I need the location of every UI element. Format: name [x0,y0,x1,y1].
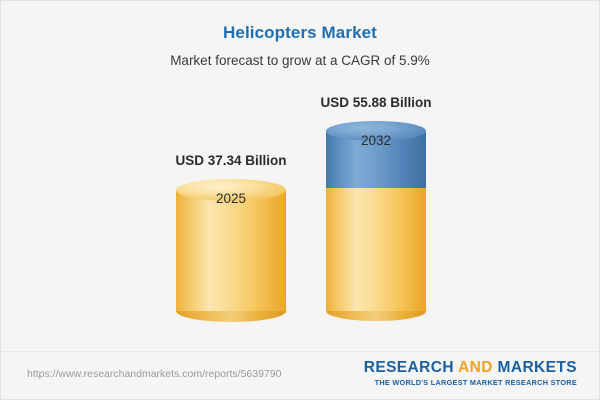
market-forecast-card: Helicopters Market Market forecast to gr… [0,0,600,400]
logo-wordmark: RESEARCH AND MARKETS [364,359,577,377]
source-url-link[interactable]: https://www.researchandmarkets.com/repor… [27,368,281,380]
cylinder-2032 [326,121,426,311]
category-label-2025: 2025 [216,191,246,206]
logo-word-research: RESEARCH [364,359,458,376]
bar-group-2025: USD 37.34 Billion 2025 [176,179,286,311]
bar-chart-plot: USD 37.34 Billion 2025 USD 55.88 Billion [1,1,600,353]
brand-logo[interactable]: RESEARCH AND MARKETS THE WORLD'S LARGEST… [364,359,577,387]
logo-word-markets: MARKETS [493,359,577,376]
cylinder-segment-base-2032 [326,188,426,311]
logo-tagline: THE WORLD'S LARGEST MARKET RESEARCH STOR… [364,378,577,387]
bar-value-label-2025: USD 37.34 Billion [175,153,286,168]
cylinder-segment-growth-2032 [326,121,426,188]
logo-word-and: AND [458,359,493,376]
bar-group-2032: USD 55.88 Billion 2032 [326,121,426,311]
category-label-2032: 2032 [361,133,391,148]
cylinder-body-base-2032 [326,188,426,311]
cylinder-body-2025 [176,190,286,311]
bar-value-label-2032: USD 55.88 Billion [320,95,431,110]
footer: https://www.researchandmarkets.com/repor… [1,351,599,399]
